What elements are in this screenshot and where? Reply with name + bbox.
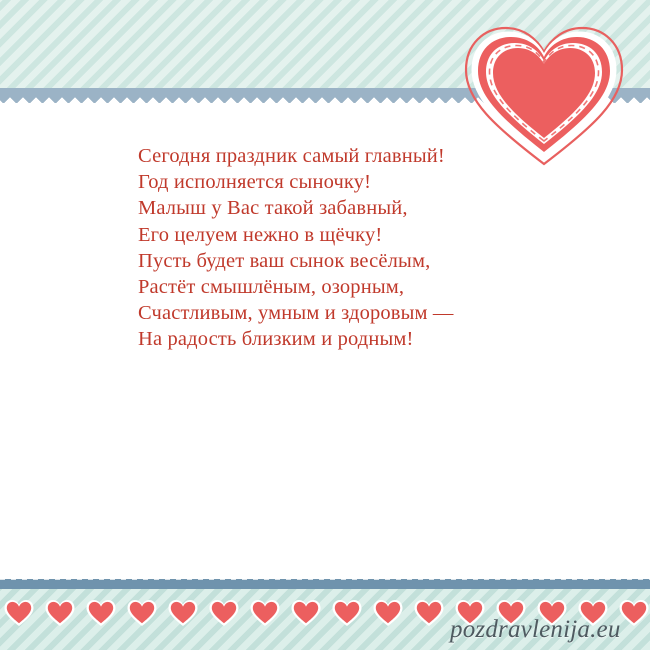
mini-heart-icon <box>331 598 363 628</box>
poem-line: Счастливым, умным и здоровым — <box>138 300 558 326</box>
poem-text-block: Сегодня праздник самый главный! Год испо… <box>138 143 558 353</box>
mini-heart-icon <box>167 598 199 628</box>
poem-line: Пусть будет ваш сынок весёлым, <box>138 248 558 274</box>
poem-line: Малыш у Вас такой забавный, <box>138 195 558 221</box>
mini-heart-icon <box>618 598 650 628</box>
poem-line: Год исполняется сыночку! <box>138 169 558 195</box>
poem-line: Его целуем нежно в щёчку! <box>138 222 558 248</box>
mini-heart-icon <box>372 598 404 628</box>
mini-heart-icon <box>3 598 35 628</box>
mini-heart-icon <box>208 598 240 628</box>
poem-line: На радость близким и родным! <box>138 326 558 352</box>
bottom-zigzag-edge <box>0 570 650 579</box>
watermark-text: pozdravlenija.eu <box>450 616 621 644</box>
mini-heart-icon <box>413 598 445 628</box>
greeting-card: Сегодня праздник самый главный! Год испо… <box>0 0 650 650</box>
poem-line: Сегодня праздник самый главный! <box>138 143 558 169</box>
mini-heart-icon <box>249 598 281 628</box>
mini-heart-icon <box>44 598 76 628</box>
mini-heart-icon <box>290 598 322 628</box>
mini-heart-icon <box>85 598 117 628</box>
mini-heart-icon <box>126 598 158 628</box>
poem-line: Растёт смышлёным, озорным, <box>138 274 558 300</box>
